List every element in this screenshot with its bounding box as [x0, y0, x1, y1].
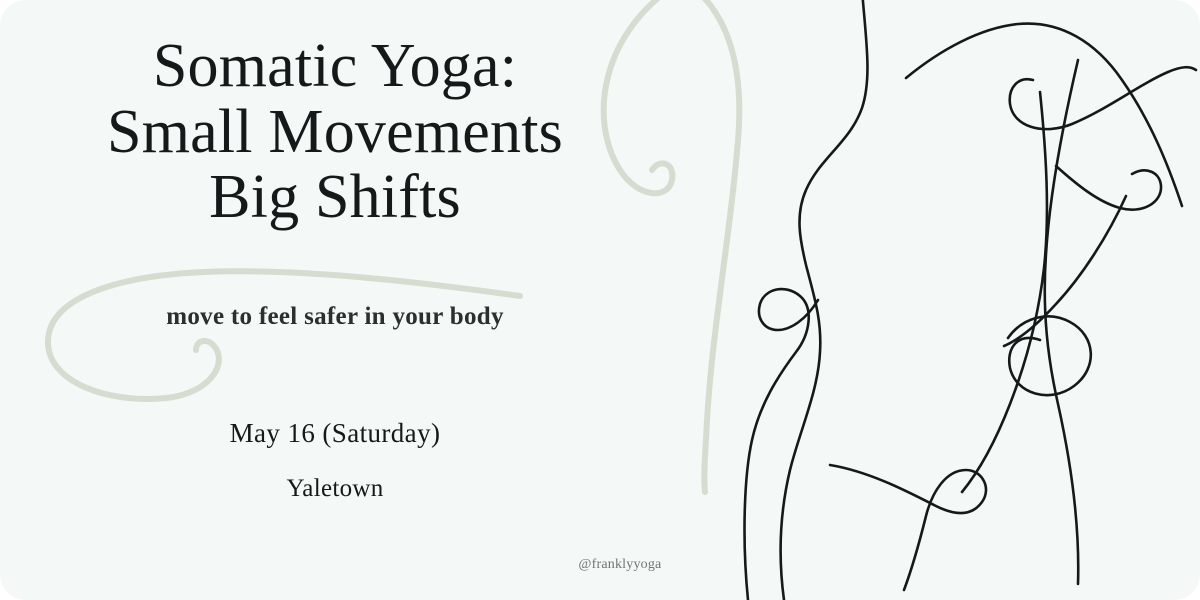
poster-canvas: Somatic Yoga: Small Movements Big Shifts… [0, 0, 1200, 600]
event-location: Yaletown [55, 475, 615, 503]
title-line-3: Big Shifts [55, 165, 615, 231]
sage-swoosh-decoration [48, 271, 520, 399]
page-title: Somatic Yoga: Small Movements Big Shifts [55, 34, 615, 231]
subtitle-text: move to feel safer in your body [55, 303, 615, 331]
line-art-figure [745, 0, 1196, 600]
event-date: May 16 (Saturday) [55, 418, 615, 449]
social-handle: @franklyyoga [455, 557, 785, 573]
title-line-1: Somatic Yoga: [55, 34, 615, 100]
title-line-2: Small Movements [55, 100, 615, 166]
sage-arc-decoration [604, 0, 740, 492]
